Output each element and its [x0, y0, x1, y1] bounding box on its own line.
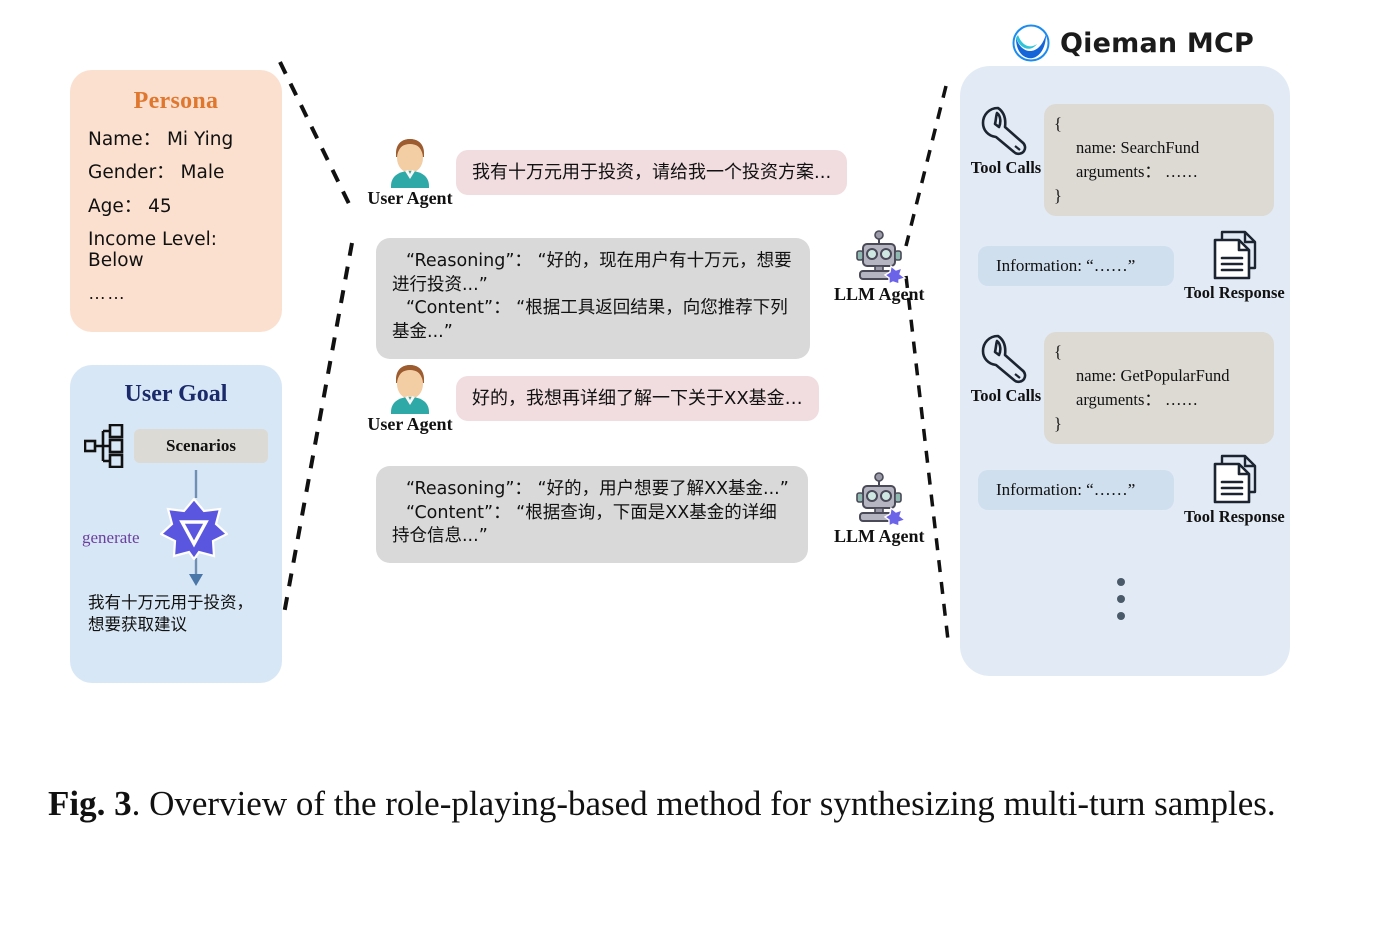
user-message-bubble-2: 好的，我想再详细了解一下关于XX基金… [456, 376, 819, 421]
scenarios-row: Scenarios [84, 424, 268, 468]
persona-field-gender: Gender： Male [88, 162, 266, 183]
persona-title: Persona [86, 88, 266, 115]
caption-text: . Overview of the role-playing-based met… [132, 784, 1276, 823]
tool-call-name-1: name: SearchFund [1054, 136, 1260, 160]
tool-response-row-1: Information: “……” Tool Response [978, 228, 1285, 303]
user-goal-card: User Goal Scenarios generate [70, 365, 282, 683]
robot-icon [851, 470, 907, 526]
persona-card: Persona Name： Mi Ying Gender： Male Age： … [70, 70, 282, 332]
scenarios-box[interactable]: Scenarios [134, 429, 268, 463]
tool-response-label-1: Tool Response [1184, 283, 1285, 303]
tool-calls-icon-group-2: Tool Calls [968, 332, 1044, 406]
user-turn-1: User Agent 我有十万元用于投资，请给我一个投资方案... [364, 136, 847, 209]
user-goal-title: User Goal [84, 381, 268, 408]
tool-call-box-1: { name: SearchFund arguments： …… } [1044, 104, 1274, 216]
persona-ellipsis: …… [88, 283, 266, 304]
persona-field-income: Income Level: Below [88, 229, 266, 272]
hierarchy-icon [84, 424, 126, 468]
tool-call-arguments-2: arguments： …… [1054, 388, 1260, 412]
dot [1117, 578, 1125, 586]
tool-call-close-brace-2: } [1054, 412, 1260, 436]
figure-caption: Fig. 3. Overview of the role-playing-bas… [48, 782, 1338, 827]
tool-response-info-2: Information: “……” [978, 470, 1174, 510]
tool-call-open-brace-2: { [1054, 340, 1260, 364]
assistant-reasoning-2: “Reasoning”： “好的，用户想要了解XX基金...” [392, 478, 792, 502]
assistant-reasoning-1: “Reasoning”： “好的，现在用户有十万元，想要进行投资...” [392, 250, 794, 297]
user-avatar-icon [388, 136, 432, 188]
llm-agent-2: LLM Agent [834, 470, 925, 547]
tool-calls-icon-group-1: Tool Calls [968, 104, 1044, 178]
user-turn-2: User Agent 好的，我想再详细了解一下关于XX基金… [364, 362, 819, 435]
tool-response-info-1: Information: “……” [978, 246, 1174, 286]
tool-call-name-2: name: GetPopularFund [1054, 364, 1260, 388]
tool-calls-label-1: Tool Calls [971, 158, 1041, 178]
tool-call-row-2: Tool Calls { name: GetPopularFund argume… [968, 332, 1274, 444]
tool-response-row-2: Information: “……” Tool Response [978, 452, 1285, 527]
assistant-message-bubble-1: “Reasoning”： “好的，现在用户有十万元，想要进行投资...” “Co… [376, 238, 810, 359]
user-message-bubble-1: 我有十万元用于投资，请给我一个投资方案... [456, 150, 847, 195]
generate-block: generate [84, 470, 268, 588]
persona-field-name: Name： Mi Ying [88, 129, 266, 150]
document-icon [1207, 228, 1261, 282]
star-burst-logo [160, 498, 228, 560]
robot-icon [851, 228, 907, 284]
user-agent-label-2: User Agent [367, 414, 452, 435]
llm-agent-1: LLM Agent [834, 228, 925, 305]
user-agent-1: User Agent [364, 136, 456, 209]
tool-response-label-2: Tool Response [1184, 507, 1285, 527]
persona-field-age: Age： 45 [88, 196, 266, 217]
user-goal-text: 我有十万元用于投资，想要获取建议 [84, 592, 268, 637]
tool-response-icon-group-1: Tool Response [1184, 228, 1285, 303]
qieman-logo-icon [1012, 24, 1050, 62]
tool-call-open-brace-1: { [1054, 112, 1260, 136]
tool-call-box-2: { name: GetPopularFund arguments： …… } [1044, 332, 1274, 444]
document-icon [1207, 452, 1261, 506]
tool-call-arguments-1: arguments： …… [1054, 160, 1260, 184]
mcp-title: Qieman MCP [1060, 28, 1254, 59]
mcp-header: Qieman MCP [1012, 24, 1254, 62]
assistant-content-1: “Content”： “根据工具返回结果，向您推荐下列基金...” [392, 297, 794, 344]
wrench-icon [978, 332, 1034, 384]
generate-label: generate [82, 528, 140, 548]
tool-calls-label-2: Tool Calls [971, 386, 1041, 406]
user-agent-label-1: User Agent [367, 188, 452, 209]
tool-response-icon-group-2: Tool Response [1184, 452, 1285, 527]
llm-agent-label-1: LLM Agent [834, 284, 925, 305]
llm-agent-label-2: LLM Agent [834, 526, 925, 547]
assistant-message-bubble-2: “Reasoning”： “好的，用户想要了解XX基金...” “Content… [376, 466, 808, 563]
user-agent-2: User Agent [364, 362, 456, 435]
figure-diagram: Persona Name： Mi Ying Gender： Male Age： … [0, 0, 1376, 760]
user-avatar-icon [388, 362, 432, 414]
tool-call-row-1: Tool Calls { name: SearchFund arguments：… [968, 104, 1274, 216]
dot [1117, 612, 1125, 620]
wrench-icon [978, 104, 1034, 156]
vertical-ellipsis-icon [1117, 578, 1125, 620]
dot [1117, 595, 1125, 603]
tool-call-close-brace-1: } [1054, 184, 1260, 208]
assistant-content-2: “Content”： “根据查询，下面是XX基金的详细持仓信息...” [392, 502, 792, 549]
caption-figure-number: Fig. 3 [48, 784, 132, 823]
